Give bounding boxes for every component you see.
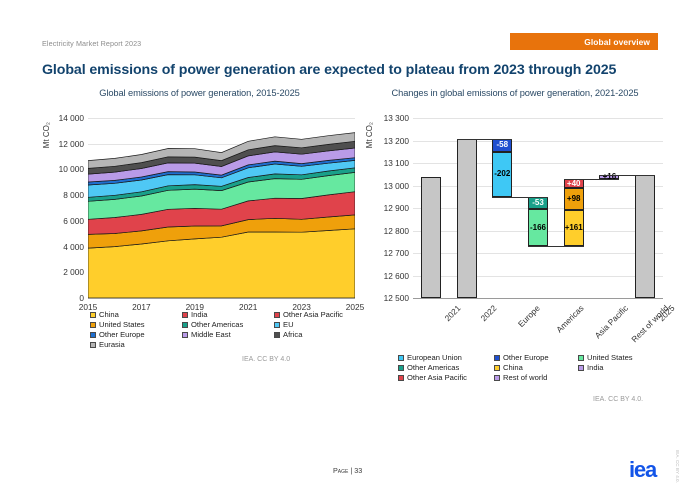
credit-right: IEA. CC BY 4.0. (593, 396, 643, 403)
side-credit: IEA. CC BY 4.0. (675, 450, 680, 483)
y-axis-tick: 12 000 (59, 139, 84, 149)
legend-label: Other Europe (99, 330, 145, 339)
legend-label: Africa (283, 330, 302, 339)
y-axis-tick: 12 600 (384, 271, 409, 281)
gridline (413, 186, 663, 187)
panel-waterfall: Changes in global emissions of power gen… (365, 88, 665, 319)
waterfall-connector (492, 197, 548, 198)
waterfall-connector (599, 175, 655, 176)
chart-title-waterfall: Changes in global emissions of power gen… (365, 88, 665, 98)
y-axis-tick: 12 500 (384, 293, 409, 303)
legend-label: Other Americas (191, 320, 243, 329)
legend-swatch-icon (182, 322, 188, 328)
waterfall-total-bar (457, 139, 477, 298)
legend-swatch-icon (182, 332, 188, 338)
legend-stacked-item[interactable]: United States (90, 320, 174, 329)
y-axis-tick: 12 700 (384, 248, 409, 258)
y-axis-title-left: Mt CO₂ (42, 122, 51, 148)
legend-label: Eurasia (99, 340, 125, 349)
legend-stacked-item[interactable]: India (182, 310, 266, 319)
legend-swatch-icon (274, 322, 280, 328)
x-axis-tick: 2021 (442, 303, 462, 323)
legend-swatch-icon (578, 355, 584, 361)
legend-label: Other Asia Pacific (407, 373, 467, 382)
legend-waterfall-item[interactable]: Rest of world (494, 373, 570, 382)
legend-stacked-item[interactable]: China (90, 310, 174, 319)
y-axis-tick: 12 900 (384, 203, 409, 213)
waterfall-value-label: -166 (528, 224, 548, 232)
legend-label: Middle East (191, 330, 231, 339)
y-axis-tick: 13 100 (384, 158, 409, 168)
legend-swatch-icon (398, 375, 404, 381)
waterfall-value-label: +98 (564, 195, 584, 203)
y-axis-tick: 14 000 (59, 113, 84, 123)
legend-label: China (99, 310, 119, 319)
legend-stacked-item[interactable]: Middle East (182, 330, 266, 339)
legend-waterfall-item[interactable]: United States (578, 353, 658, 362)
legend-stacked-item[interactable]: Other Europe (90, 330, 174, 339)
x-axis-line (413, 298, 663, 299)
y-axis-tick: 13 200 (384, 136, 409, 146)
stacked-area-series (88, 118, 355, 298)
legend-swatch-icon (494, 375, 500, 381)
legend-swatch-icon (274, 332, 280, 338)
gridline (413, 276, 663, 277)
legend-stacked-item[interactable]: Eurasia (90, 340, 174, 349)
legend-swatch-icon (398, 355, 404, 361)
y-axis-tick: 8 000 (63, 190, 84, 200)
gridline (413, 163, 663, 164)
slide-root: Electricity Market Report 2023 Global ov… (0, 0, 700, 495)
legend-label: European Union (407, 353, 462, 362)
legend-swatch-icon (578, 365, 584, 371)
legend-waterfall-item[interactable]: India (578, 363, 658, 372)
legend-label: India (587, 363, 603, 372)
waterfall-total-bar (635, 175, 655, 298)
legend-swatch-icon (90, 312, 96, 318)
legend-stacked-item[interactable]: EU (274, 320, 374, 329)
legend-swatch-icon (274, 312, 280, 318)
waterfall-value-label: -202 (492, 170, 512, 178)
legend-waterfall-item[interactable]: European Union (398, 353, 486, 362)
legend-stacked-item[interactable]: Other Asia Pacific (274, 310, 374, 319)
waterfall-value-label: +16 (599, 173, 619, 181)
credit-left: IEA. CC BY 4.0 (242, 356, 290, 363)
legend-swatch-icon (494, 365, 500, 371)
gridline (413, 141, 663, 142)
legend-waterfall-item[interactable]: Other Europe (494, 353, 570, 362)
legend-stacked-item[interactable]: Other Americas (182, 320, 266, 329)
legend-waterfall-item[interactable]: China (494, 363, 570, 372)
legend-waterfall-item[interactable]: Other Americas (398, 363, 486, 372)
legend-swatch-icon (398, 365, 404, 371)
y-axis-tick: 12 800 (384, 226, 409, 236)
gridline (413, 118, 663, 119)
legend-label: United States (99, 320, 145, 329)
section-tag-global-overview: Global overview (510, 33, 658, 50)
waterfall-value-label: +161 (564, 224, 584, 232)
waterfall-value-label: +40 (564, 180, 584, 188)
legend-swatch-icon (182, 312, 188, 318)
gridline (413, 253, 663, 254)
panel-stacked-area: Global emissions of power generation, 20… (42, 88, 357, 319)
x-axis-tick: Europe (516, 303, 542, 329)
plot-region-stacked: 02 0004 0006 0008 00010 00012 00014 0002… (88, 118, 355, 298)
legend-label: United States (587, 353, 633, 362)
waterfall-value-label: -58 (492, 141, 512, 149)
waterfall-total-bar (421, 177, 441, 299)
legend-label: Other Europe (503, 353, 549, 362)
legend-waterfall-item[interactable]: Other Asia Pacific (398, 373, 486, 382)
chart-area-stacked: Mt CO₂ 02 0004 0006 0008 00010 00012 000… (42, 104, 357, 319)
chart-area-waterfall: Mt CO₂ 12 50012 60012 70012 80012 90013 … (365, 104, 665, 319)
chart-title-stacked-area: Global emissions of power generation, 20… (42, 88, 357, 98)
legend-label: China (503, 363, 523, 372)
legend-swatch-icon (90, 342, 96, 348)
legend-label: Other Asia Pacific (283, 310, 343, 319)
legend-swatch-icon (90, 322, 96, 328)
y-axis-title-right: Mt CO₂ (365, 122, 374, 148)
iea-logo: iea (629, 459, 656, 481)
waterfall-connector (457, 139, 513, 140)
legend-waterfall: European UnionOther EuropeUnited StatesO… (398, 353, 658, 382)
legend-stacked-area: ChinaIndiaOther Asia PacificUnited State… (90, 310, 374, 349)
page-number: Page | 33 (333, 466, 362, 475)
waterfall-value-label: -53 (528, 199, 548, 207)
x-axis-line (88, 298, 355, 299)
y-axis-tick: 2 000 (63, 267, 84, 277)
document-label: Electricity Market Report 2023 (42, 39, 141, 48)
x-axis-tick: Americas (554, 303, 586, 335)
y-axis-tick: 13 000 (384, 181, 409, 191)
y-axis-tick: 13 300 (384, 113, 409, 123)
waterfall-connector (528, 246, 584, 247)
legend-label: EU (283, 320, 294, 329)
plot-region-waterfall: 12 50012 60012 70012 80012 90013 00013 1… (413, 118, 663, 298)
x-axis-tick: 2022 (478, 303, 498, 323)
y-axis-tick: 6 000 (63, 216, 84, 226)
page-title: Global emissions of power generation are… (42, 62, 660, 78)
waterfall-connector (564, 179, 620, 180)
legend-label: India (191, 310, 207, 319)
legend-label: Rest of world (503, 373, 547, 382)
y-axis-tick: 10 000 (59, 164, 84, 174)
y-axis-tick: 4 000 (63, 242, 84, 252)
x-axis-tick: Asia Pacific (592, 303, 629, 340)
legend-label: Other Americas (407, 363, 459, 372)
legend-stacked-item[interactable]: Africa (274, 330, 374, 339)
legend-swatch-icon (494, 355, 500, 361)
legend-swatch-icon (90, 332, 96, 338)
